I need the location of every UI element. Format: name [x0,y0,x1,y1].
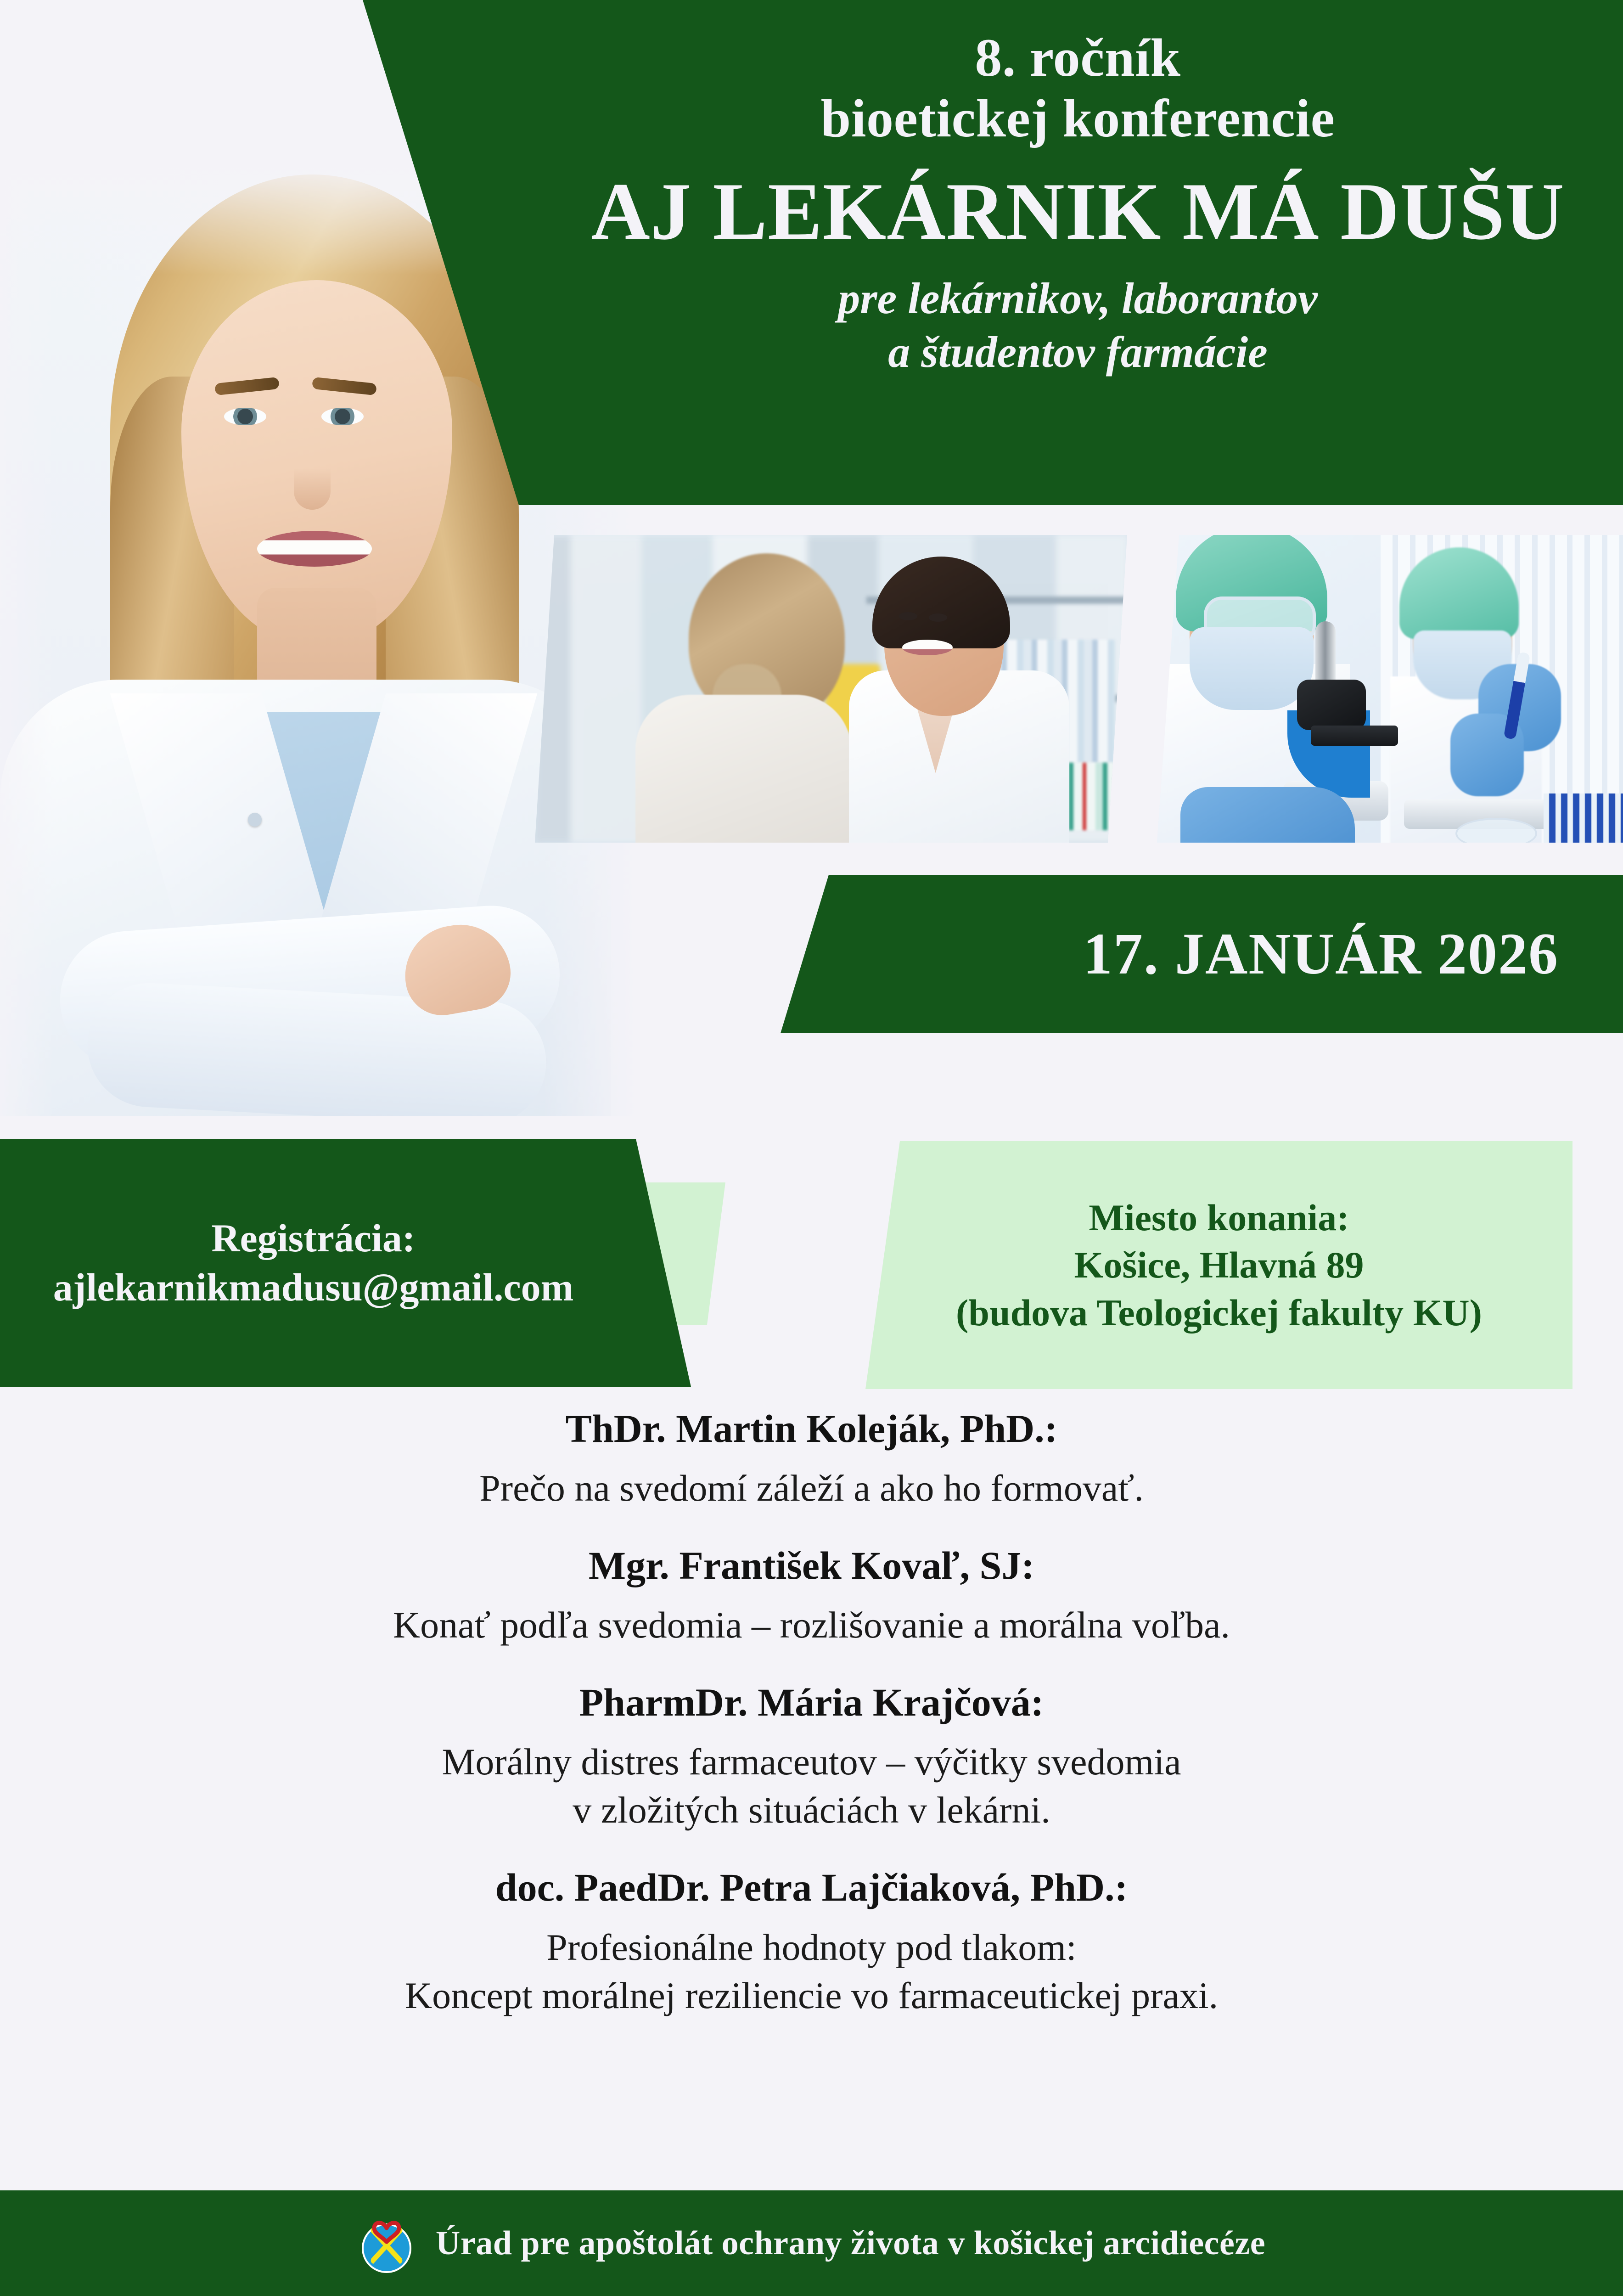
header-content: 8. ročník bioetickej konferencie AJ LEKÁ… [533,0,1623,505]
edition-line-2: bioetickej konferencie [821,88,1335,149]
speaker-entry: doc. PaedDr. Petra Lajčiaková, PhD.: Pro… [405,1864,1218,2020]
lab-glove-left [1180,787,1355,843]
venue-box: Miesto konania: Košice, Hlavná 89 (budov… [865,1141,1572,1389]
speaker-entry: ThDr. Martin Koleják, PhD.: Prečo na sve… [479,1405,1144,1513]
date-banner: 17. JANUÁR 2026 [781,875,1623,1033]
conference-audience: pre lekárnikov, laborantov a študentov f… [838,271,1317,379]
venue-address: Košice, Hlavná 89 [1074,1241,1364,1289]
conference-poster: 8. ročník bioetickej konferencie AJ LEKÁ… [0,0,1623,2296]
registration-email[interactable]: ajlekarnikmadusu@gmail.com [53,1263,574,1312]
speaker-topic-line: v zložitých situáciách v lekárni. [442,1786,1181,1835]
consult-pharmacist-smile [902,640,953,655]
conference-title: AJ LEKÁRNIK MÁ DUŠU [591,168,1565,255]
audience-line-2: a študentov farmácie [838,325,1317,379]
photo-laboratory-work [1157,535,1623,843]
speaker-program-list: ThDr. Martin Koleják, PhD.: Prečo na sve… [0,1405,1623,2049]
saltire-cross-heart-icon [358,2209,416,2278]
consult-pharmacist-eye-left [899,612,917,620]
conference-edition: 8. ročník bioetickej konferencie [821,28,1335,149]
speaker-topic-line: Morálny distres farmaceutov – výčitky sv… [442,1738,1181,1786]
venue-building: (budova Teologickej fakulty KU) [956,1289,1482,1336]
speaker-topic-line: Profesionálne hodnoty pod tlakom: [405,1924,1218,1972]
registration-box: Registrácia: ajlekarnikmadusu@gmail.com [0,1139,709,1387]
speaker-name: Mgr. František Kovaľ, SJ: [393,1542,1230,1589]
speaker-name: ThDr. Martin Koleják, PhD.: [479,1405,1144,1452]
organizer-name: Úrad pre apoštolát ochrany života v koši… [436,2224,1265,2263]
customer-body [635,695,851,843]
conference-date: 17. JANUÁR 2026 [1083,920,1559,988]
consult-pharmacist-eye-right [929,613,947,622]
lab-technician-1-face-mask [1190,627,1314,710]
speaker-name: doc. PaedDr. Petra Lajčiaková, PhD.: [405,1864,1218,1911]
registration-label: Registrácia: [211,1214,415,1263]
speaker-entry: PharmDr. Mária Krajčová: Morálny distres… [442,1679,1181,1835]
lab-test-tube-rack [1544,793,1623,843]
audience-line-1: pre lekárnikov, laborantov [838,271,1317,325]
venue-label: Miesto konania: [1089,1194,1349,1241]
photo-pharmacy-consultation [535,535,1127,843]
speaker-topic-line: Prečo na svedomí záleží a ako ho formova… [479,1464,1144,1513]
microscope-stage [1311,726,1398,746]
edition-line-1: 8. ročník [821,28,1335,88]
microscope-objective-head [1297,680,1366,730]
speaker-entry: Mgr. František Kovaľ, SJ: Konať podľa sv… [393,1542,1230,1649]
speaker-topic-line: Koncept morálnej reziliencie vo farmaceu… [405,1972,1218,2020]
speaker-topic-line: Konať podľa svedomia – rozlišovanie a mo… [393,1601,1230,1649]
footer-bar: Úrad pre apoštolát ochrany života v koši… [0,2190,1623,2296]
speaker-name: PharmDr. Mária Krajčová: [442,1679,1181,1726]
